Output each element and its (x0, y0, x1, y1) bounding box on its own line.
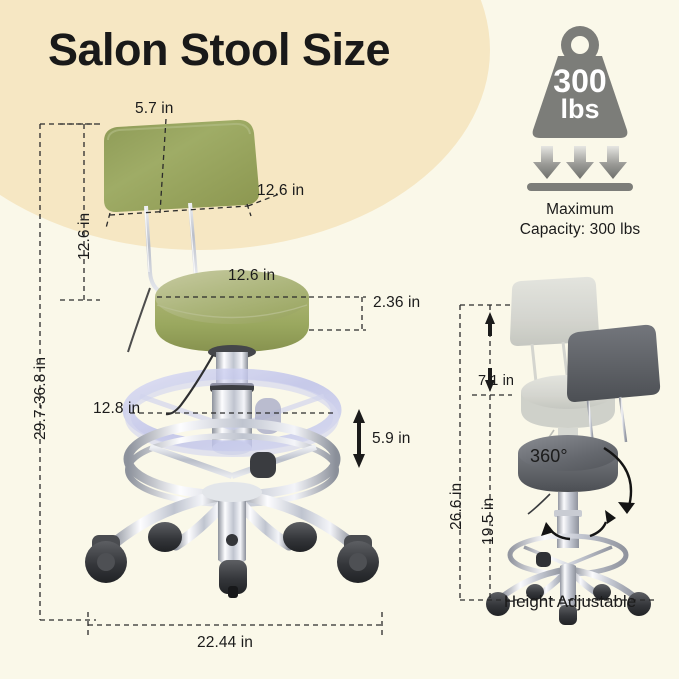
height-adjustable-caption: Height Adjustable (470, 592, 670, 612)
capacity-caption: Maximum Capacity: 300 lbs (500, 200, 660, 240)
backrest (104, 120, 259, 212)
rotation-label: 360° (530, 446, 568, 467)
caster (148, 522, 182, 552)
gray-chair (486, 325, 660, 625)
rotation-arrowheads (541, 502, 635, 536)
dim-seat-diameter: 12.6 in (228, 267, 275, 285)
weight-value: 300 (526, 66, 634, 96)
dim-base-width: 22.44 in (197, 634, 253, 652)
infographic-canvas: Salon Stool Size 300 (0, 0, 679, 679)
dim-seat-thickness: 2.36 in (373, 294, 420, 312)
caster (219, 560, 247, 598)
dim-lowest-height: 19.5 in (480, 498, 498, 545)
max-capacity-badge: 300 lbs Maximum Capacity: 300 lbs (500, 18, 660, 240)
caster (283, 522, 317, 552)
main-stool-illustration (0, 0, 470, 679)
weight-unit: lbs (526, 96, 634, 123)
load-arrows (533, 146, 627, 179)
height-adjustable-illustration (450, 270, 679, 600)
dim-footring-diameter: 12.8 in (93, 400, 140, 418)
dim-adjust-range: 7.1 in (478, 373, 514, 389)
star-base (112, 482, 353, 566)
dim-backrest-width: 12.6 in (257, 182, 304, 200)
dim-footring-travel: 5.9 in (372, 430, 411, 448)
dim-total-height: 29.7-36.8 in (32, 357, 50, 440)
dim-backrest-to-seat: 12.6 in (76, 213, 94, 260)
capacity-line-1: Maximum (500, 200, 660, 220)
capacity-line-2: Capacity: 300 lbs (500, 220, 660, 240)
dim-total-height-right: 26.6 in (448, 483, 466, 530)
dimension-arrows (353, 409, 365, 468)
dim-backrest-height: 5.7 in (135, 100, 174, 118)
